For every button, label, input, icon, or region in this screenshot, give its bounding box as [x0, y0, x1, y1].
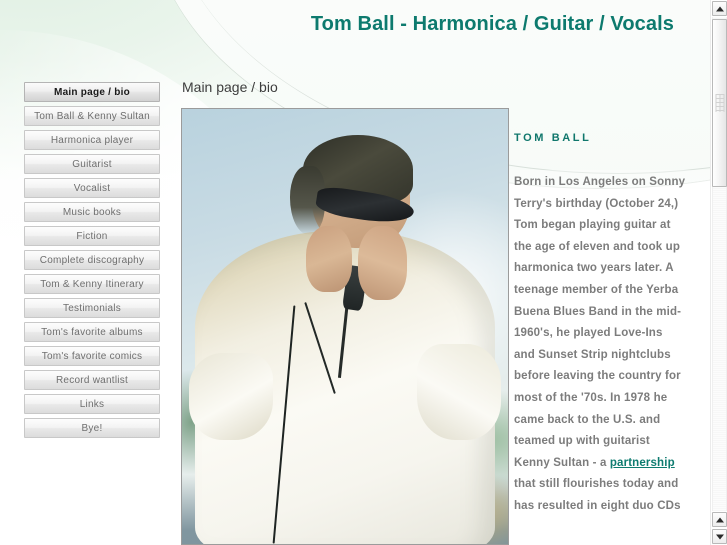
sidebar-item-tom-ball-kenny-sultan[interactable]: Tom Ball & Kenny Sultan — [24, 106, 160, 126]
scroll-down-button[interactable] — [712, 529, 727, 544]
photo-hand-left — [306, 226, 352, 291]
page-canvas: Tom Ball - Harmonica / Guitar / Vocals M… — [0, 0, 710, 545]
photo-hand-right — [358, 226, 407, 300]
site-title: Tom Ball - Harmonica / Guitar / Vocals — [311, 13, 674, 36]
sidebar-item-vocalist[interactable]: Vocalist — [24, 178, 160, 198]
sidebar-item-harmonica-player[interactable]: Harmonica player — [24, 130, 160, 150]
bio-paragraph: Born in Los Angeles on Sonny Terry's bir… — [514, 172, 686, 518]
partnership-link[interactable]: partnership — [610, 457, 675, 469]
bio-column: TOM BALL Born in Los Angeles on Sonny Te… — [514, 132, 686, 518]
scrollbar-thumb[interactable] — [712, 19, 727, 187]
sidebar-item-fiction[interactable]: Fiction — [24, 226, 160, 246]
sidebar-item-complete-discography[interactable]: Complete discography — [24, 250, 160, 270]
sidebar-item-main-page-bio[interactable]: Main page / bio — [24, 82, 160, 102]
sidebar-item-testimonials[interactable]: Testimonials — [24, 298, 160, 318]
sidebar-nav: Main page / bio Tom Ball & Kenny Sultan … — [24, 82, 160, 442]
chevron-up-icon — [716, 6, 724, 11]
bio-text-part2: that still flourishes today and has resu… — [514, 478, 681, 512]
grip-icon — [715, 94, 724, 112]
photo-sleeve-right — [417, 344, 502, 440]
scroll-up-button[interactable] — [712, 1, 727, 16]
bio-text-part1: Born in Los Angeles on Sonny Terry's bir… — [514, 176, 685, 469]
tom-ball-photo — [181, 108, 509, 545]
scroll-up-button-bottom[interactable] — [712, 512, 727, 527]
photo-background — [182, 109, 508, 544]
sidebar-item-toms-favorite-comics[interactable]: Tom's favorite comics — [24, 346, 160, 366]
chevron-down-icon — [716, 534, 724, 539]
sidebar-item-record-wantlist[interactable]: Record wantlist — [24, 370, 160, 390]
sidebar-item-guitarist[interactable]: Guitarist — [24, 154, 160, 174]
breadcrumb: Main page / bio — [182, 79, 278, 95]
sidebar-item-links[interactable]: Links — [24, 394, 160, 414]
sidebar-item-bye[interactable]: Bye! — [24, 418, 160, 438]
sidebar-item-tom-kenny-itinerary[interactable]: Tom & Kenny Itinerary — [24, 274, 160, 294]
chevron-up-icon — [716, 517, 724, 522]
sidebar-item-toms-favorite-albums[interactable]: Tom's favorite albums — [24, 322, 160, 342]
photo-sleeve-left — [189, 353, 274, 440]
sidebar-item-music-books[interactable]: Music books — [24, 202, 160, 222]
main-content: TOM BALL Born in Los Angeles on Sonny Te… — [181, 108, 686, 545]
bio-heading: TOM BALL — [514, 132, 686, 144]
vertical-scrollbar[interactable] — [710, 0, 727, 545]
